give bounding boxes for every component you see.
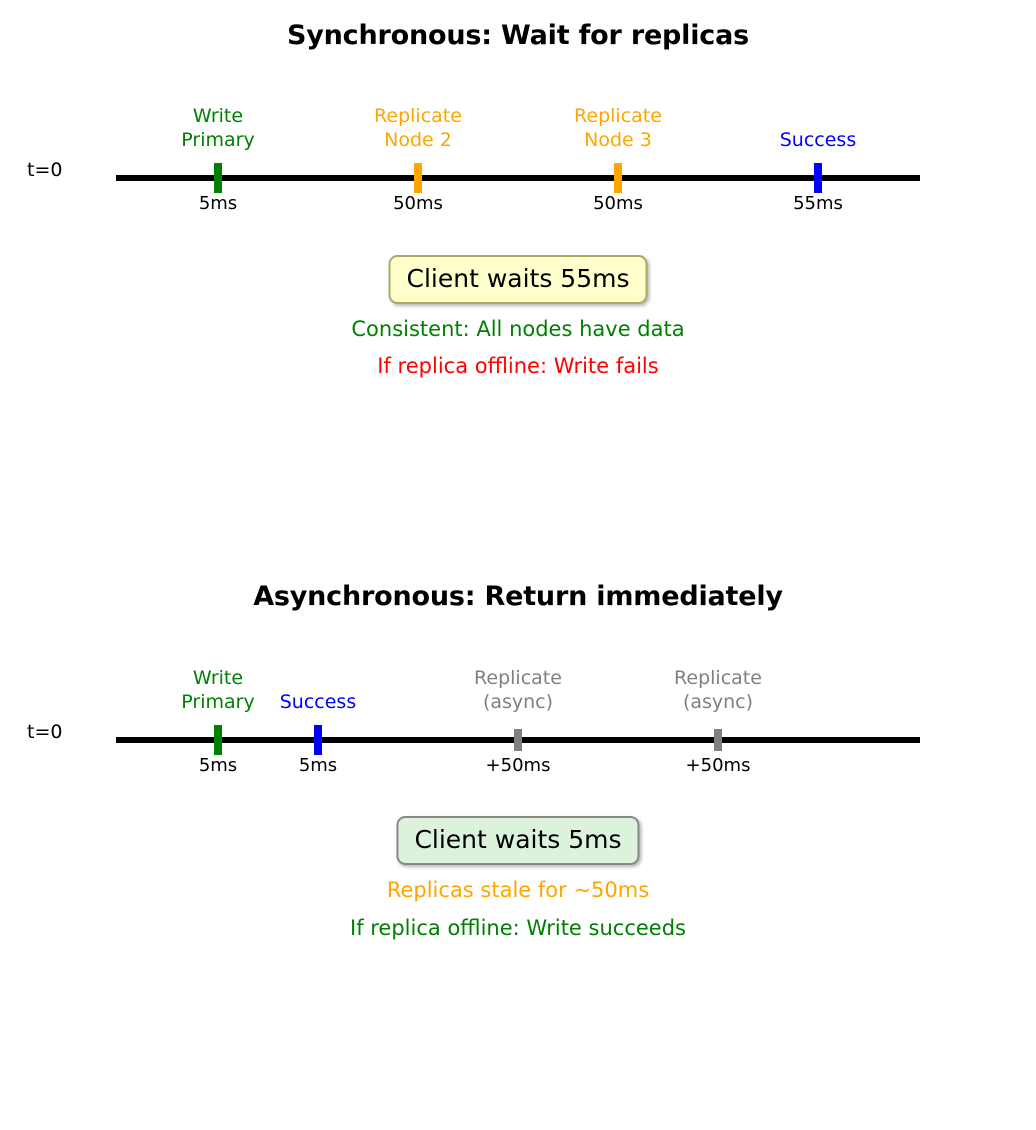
event-time-replicate-async-2: +50ms (618, 755, 818, 776)
note-replica-offline-write-succeeds: If replica offline: Write succeeds (0, 916, 1036, 940)
panel-title-synchronous: Synchronous: Wait for replicas (0, 20, 1036, 51)
event-marker-replicate-node-2 (414, 163, 422, 193)
event-label-replicate-async-2: Replicate (async) (618, 666, 818, 714)
event-time-replicate-node-3: 50ms (518, 193, 718, 214)
panel-synchronous: Synchronous: Wait for replicas t=0 Write… (0, 0, 1036, 560)
event-marker-replicate-async-1 (514, 729, 522, 751)
axis-origin-label-asynchronous: t=0 (27, 721, 62, 743)
event-label-replicate-async-1: Replicate (async) (418, 666, 618, 714)
event-time-success: 5ms (218, 755, 418, 776)
event-label-line2: Node 2 (318, 128, 518, 152)
summary-box-client-waits-55ms: Client waits 55ms (389, 255, 648, 304)
event-label-replicate-node-3: Replicate Node 3 (518, 104, 718, 152)
event-marker-write-primary (214, 163, 222, 193)
event-label-line1: Replicate (518, 104, 718, 128)
event-label-line1: Replicate (618, 666, 818, 690)
event-label-line1: Replicate (418, 666, 618, 690)
panel-title-asynchronous: Asynchronous: Return immediately (0, 581, 1036, 612)
event-marker-write-primary (214, 725, 222, 755)
event-label-success: Success (718, 128, 918, 152)
event-time-write-primary: 5ms (118, 193, 318, 214)
event-label-line2: Primary (118, 128, 318, 152)
event-label-line1: Write (118, 104, 318, 128)
event-marker-success (814, 163, 822, 193)
event-time-success: 55ms (718, 193, 918, 214)
event-time-replicate-node-2: 50ms (318, 193, 518, 214)
event-marker-success (314, 725, 322, 755)
note-replicas-stale: Replicas stale for ~50ms (0, 878, 1036, 902)
event-label-line2: (async) (618, 690, 818, 714)
timeline-axis-synchronous (116, 175, 920, 181)
event-label-line1: Success (218, 690, 418, 714)
event-time-replicate-async-1: +50ms (418, 755, 618, 776)
note-consistent-all-nodes: Consistent: All nodes have data (0, 317, 1036, 341)
event-label-success: Success (218, 690, 418, 714)
event-label-line2: (async) (418, 690, 618, 714)
event-marker-replicate-async-2 (714, 729, 722, 751)
event-label-line1: Write (118, 666, 318, 690)
event-label-write-primary: Write Primary (118, 104, 318, 152)
event-label-line2: Node 3 (518, 128, 718, 152)
event-label-line1: Replicate (318, 104, 518, 128)
axis-origin-label-synchronous: t=0 (27, 159, 62, 181)
panel-asynchronous: Asynchronous: Return immediately t=0 Wri… (0, 560, 1036, 1130)
event-label-line1: Success (718, 128, 918, 152)
summary-box-client-waits-5ms: Client waits 5ms (396, 816, 639, 865)
event-marker-replicate-node-3 (614, 163, 622, 193)
event-label-replicate-node-2: Replicate Node 2 (318, 104, 518, 152)
note-replica-offline-write-fails: If replica offline: Write fails (0, 354, 1036, 378)
